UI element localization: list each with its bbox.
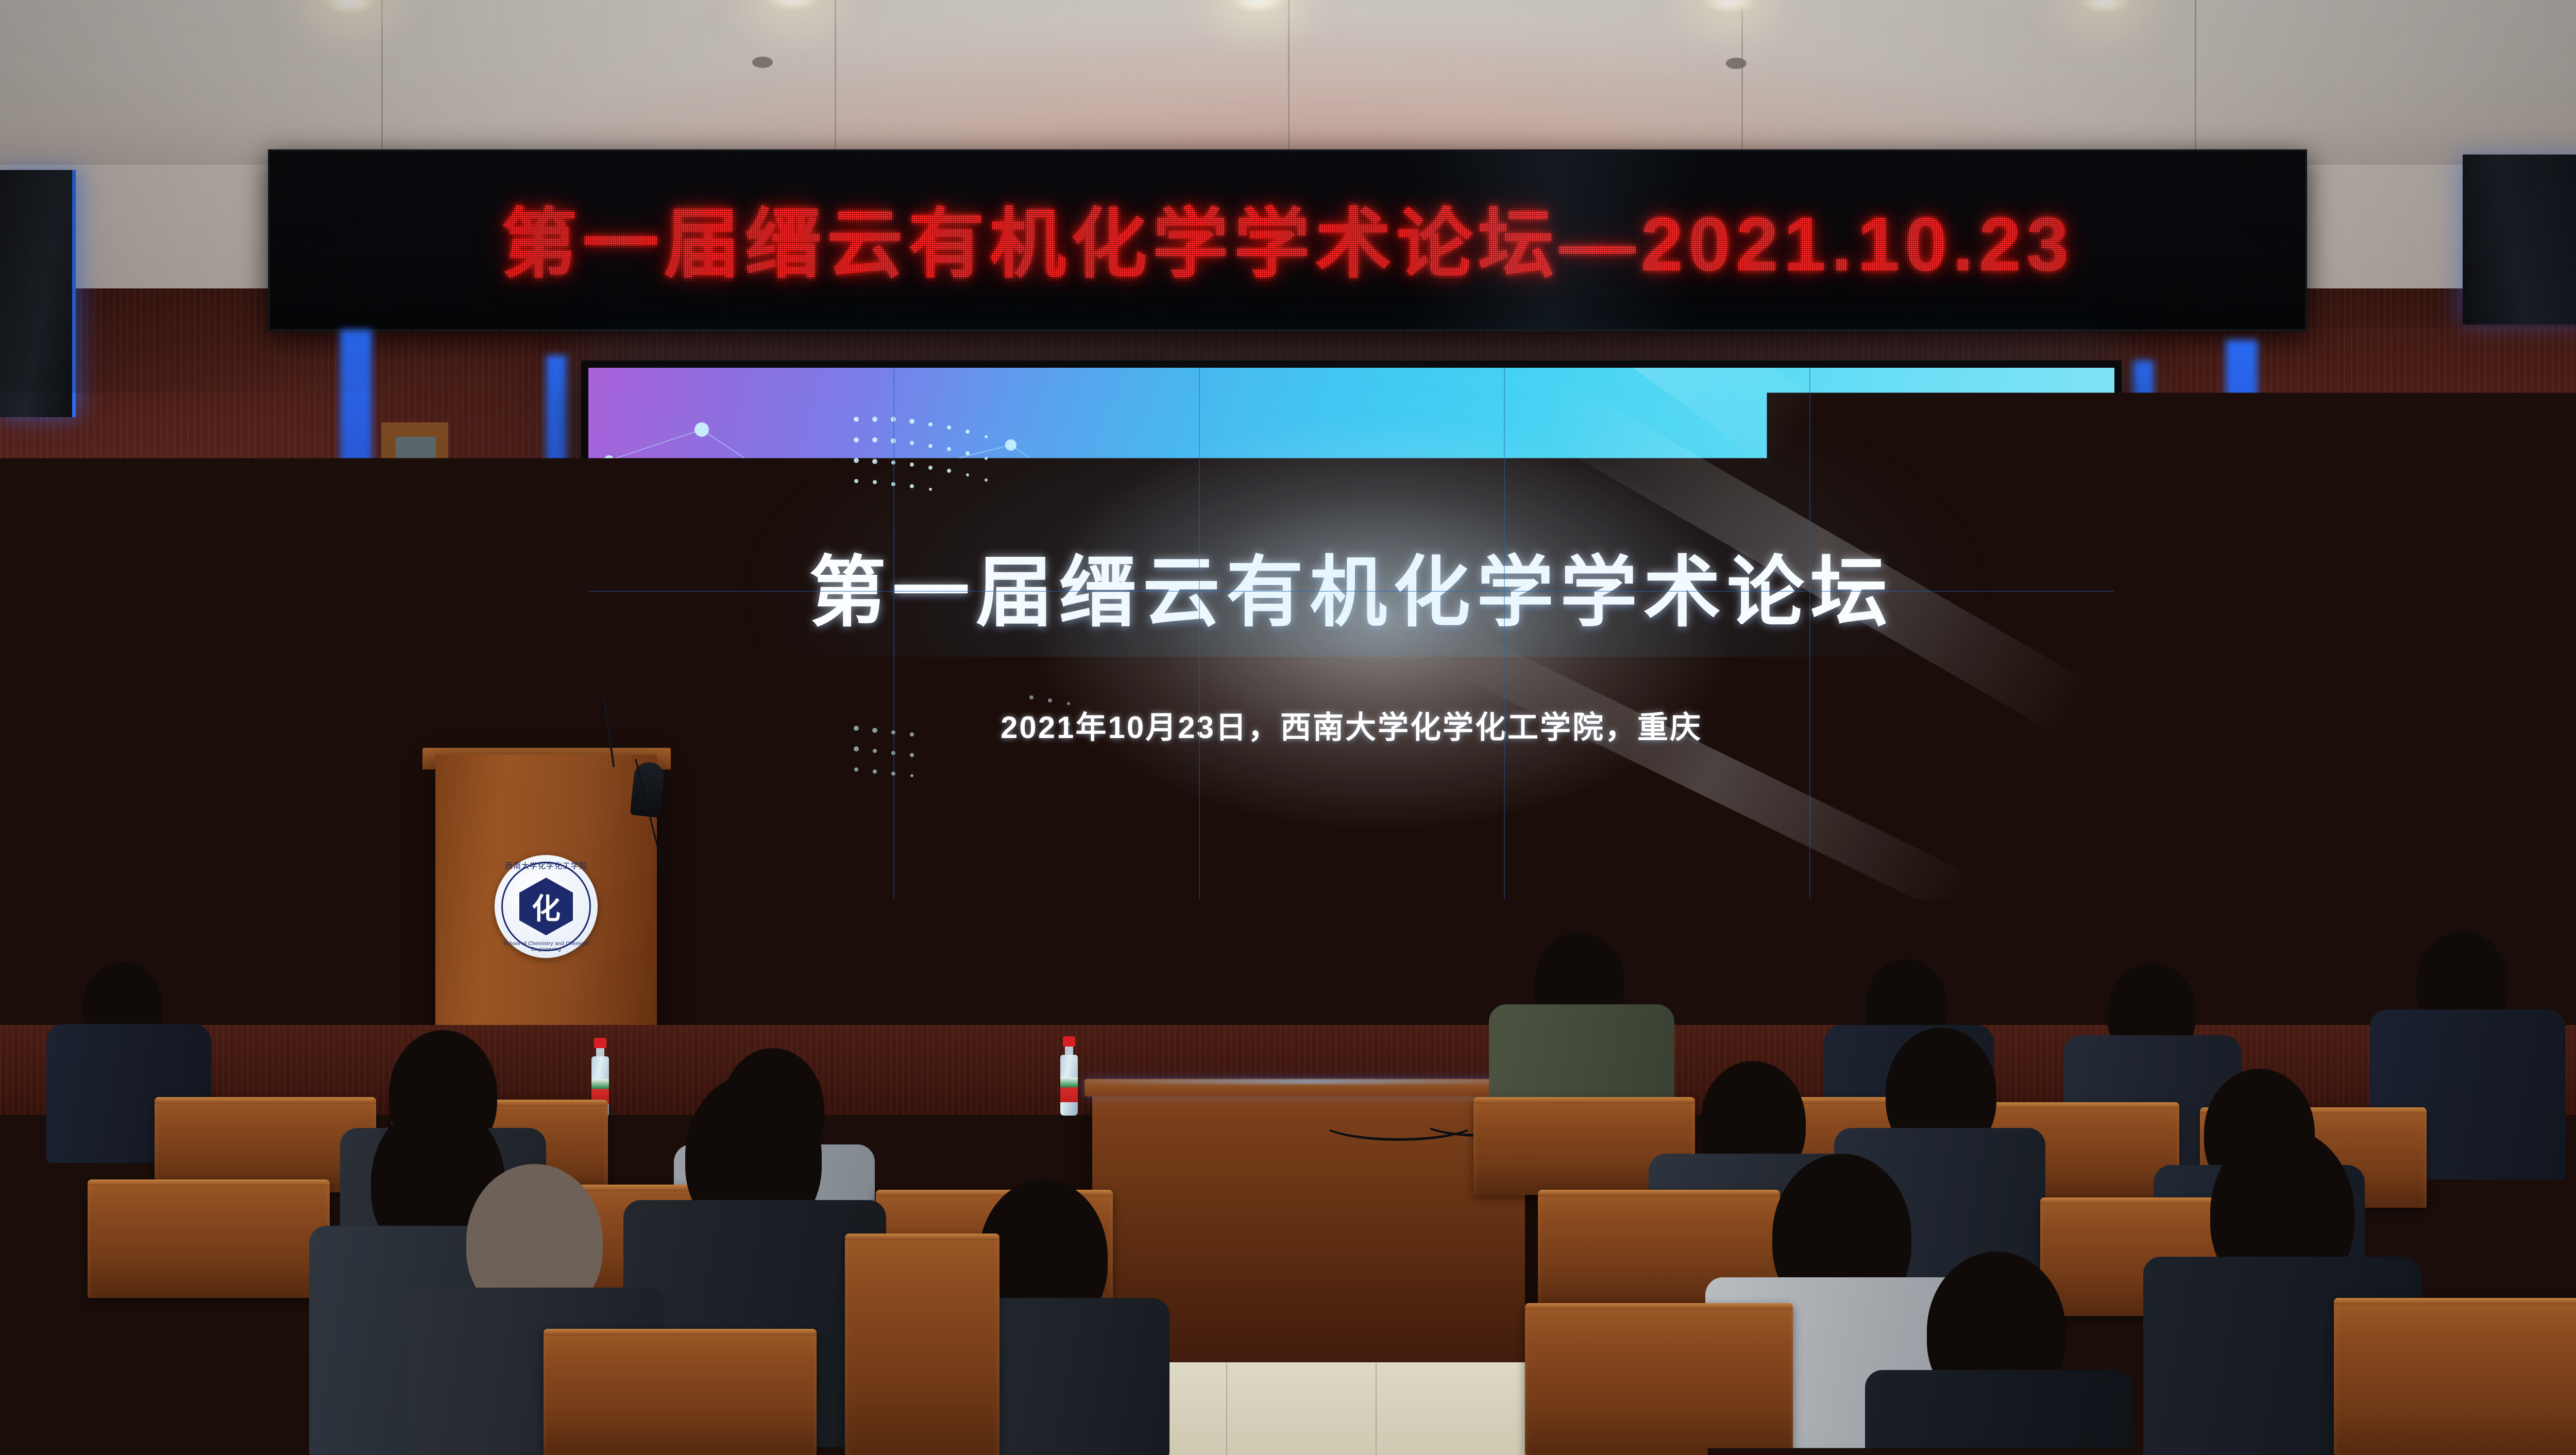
- auditorium-seat[interactable]: [2334, 1298, 2576, 1455]
- slide-title: 第一届缙云有机化学学术论坛: [588, 530, 2114, 642]
- bottle-cap: [594, 1038, 606, 1048]
- ceiling-vent: [752, 57, 773, 68]
- seat-top-edge: [2334, 1298, 2576, 1305]
- seat-top-edge: [155, 1097, 376, 1104]
- seat-top-edge: [1538, 1190, 1780, 1196]
- ceiling-seam: [1288, 0, 1290, 175]
- slide-light-streak: [1402, 368, 1825, 472]
- led-banner-text: 第一届缙云有机化学学术论坛—2021.10.23: [501, 182, 2074, 293]
- bottle-label: [1060, 1077, 1078, 1102]
- ceiling-seam: [2195, 0, 2196, 175]
- slide-light-streak: [1446, 628, 1976, 899]
- auditorium-seat[interactable]: [1525, 1303, 1793, 1455]
- slide-light-streak: [1530, 377, 2096, 740]
- floor-tile-line: [1226, 1362, 1227, 1455]
- led-banner: 第一届缙云有机化学学术论坛—2021.10.23: [268, 149, 2307, 331]
- ceiling-seam: [1741, 0, 1743, 175]
- seat-top-edge: [544, 1329, 817, 1336]
- wall-speaker-left: [0, 170, 76, 417]
- auditorium-seat[interactable]: [544, 1329, 817, 1455]
- floor-tile-line: [1376, 1362, 1377, 1455]
- presenter-left-hand: [275, 721, 302, 753]
- slide-network-graphic: [588, 368, 2114, 899]
- logo-chinese-text: 西南大学化学化工学院: [495, 860, 598, 871]
- video-wall-seam-horizontal: [588, 591, 2114, 592]
- front-desk-edge-glow: [1084, 1080, 1534, 1084]
- ceiling-vent: [1726, 58, 1747, 69]
- college-logo: 西南大学化学化工学院 化 School of Chemistry and Che…: [495, 855, 598, 958]
- ceiling-seam: [835, 0, 836, 175]
- accent-light-column-right-inner: [2133, 361, 2154, 855]
- wall-outlet-left[interactable]: [66, 845, 89, 874]
- seat-top-edge: [1525, 1303, 1793, 1310]
- auditorium-seat[interactable]: [845, 1234, 999, 1455]
- left-door-glass: [396, 437, 436, 792]
- logo-english-text: School of Chemistry and Chemical Enginee…: [495, 941, 598, 952]
- lecture-hall-photo: 第一届缙云有机化学学术论坛—2021.10.23: [0, 0, 2576, 1455]
- wall-sensor-panel: [2264, 827, 2308, 844]
- ceiling-seam: [381, 0, 383, 175]
- video-wall-seam-horizontal: [588, 825, 2114, 826]
- video-wall-seam-vertical: [893, 368, 894, 899]
- bottle-neck: [1065, 1047, 1073, 1055]
- light-switch-plate[interactable]: [2339, 868, 2381, 888]
- seat-top-edge: [1473, 1097, 1695, 1104]
- led-banner-inner: 第一届缙云有机化学学术论坛—2021.10.23: [270, 151, 2305, 329]
- accent-light-column-right: [2226, 340, 2258, 886]
- slide-center-glow: [1031, 416, 1733, 830]
- video-wall-seam-vertical: [1199, 368, 1200, 899]
- ceiling: [0, 0, 2576, 175]
- presenter: [222, 603, 392, 1066]
- bottle-cap: [1063, 1036, 1075, 1047]
- bottle-body: [1060, 1055, 1078, 1116]
- podium: 西南大学化学化工学院 化 School of Chemistry and Che…: [435, 755, 657, 1053]
- water-bottle: [1060, 1036, 1078, 1116]
- slide-subtitle: 2021年10月23日，西南大学化学化工学院，重庆: [588, 703, 2114, 747]
- presenter-right-hand: [327, 705, 351, 735]
- auditorium-seat[interactable]: [0, 1319, 268, 1455]
- video-wall[interactable]: 第一届缙云有机化学学术论坛 2021年10月23日，西南大学化学化工学院，重庆: [581, 361, 2122, 906]
- audience-head: [0, 1118, 116, 1259]
- bottle-neck: [596, 1048, 604, 1056]
- video-wall-screen: 第一届缙云有机化学学术论坛 2021年10月23日，西南大学化学化工学院，重庆: [588, 368, 2114, 899]
- seat-top-edge: [845, 1234, 999, 1240]
- seat-top-edge: [88, 1179, 330, 1186]
- seat-top-edge: [0, 1319, 268, 1325]
- video-wall-seam-vertical: [1809, 368, 1810, 899]
- audience-body: [1865, 1370, 2133, 1455]
- wall-speaker-right: [2463, 155, 2576, 324]
- presenter-hair: [284, 598, 341, 636]
- video-wall-seam-vertical: [1504, 368, 1505, 899]
